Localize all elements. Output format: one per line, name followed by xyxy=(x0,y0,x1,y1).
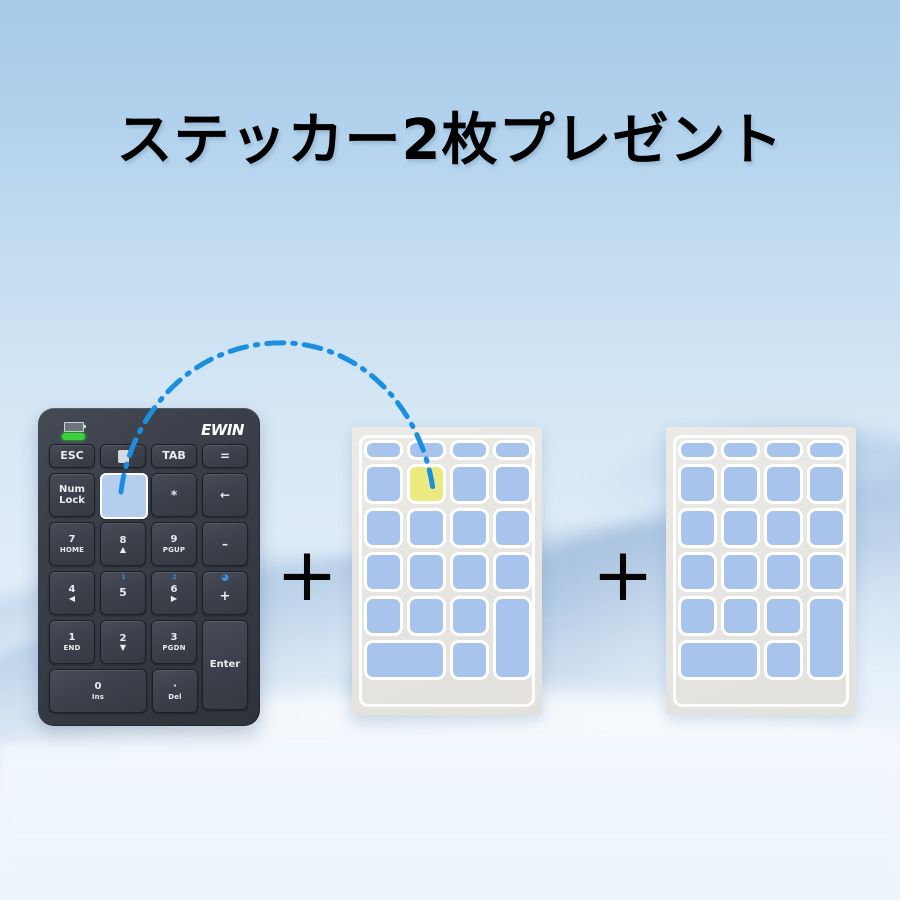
key-dot[interactable]: ·Del xyxy=(152,669,198,713)
sticker xyxy=(764,640,803,680)
key-star[interactable]: * xyxy=(151,473,197,517)
sticker xyxy=(764,508,803,548)
sticker xyxy=(764,596,803,636)
battery-icon xyxy=(64,422,84,432)
sticker xyxy=(807,508,846,548)
plus-separator-2: + xyxy=(592,538,654,612)
sticker xyxy=(807,596,846,680)
key-label: ← xyxy=(220,489,230,502)
key-label: TAB xyxy=(162,450,186,462)
sticker xyxy=(678,508,717,548)
key-label: 3 xyxy=(171,632,178,644)
key-k8[interactable]: 8▲ xyxy=(100,522,146,566)
key-label: Enter xyxy=(210,660,240,671)
key-numlock[interactable]: NumLock xyxy=(49,473,95,517)
sticker xyxy=(493,440,532,460)
sticker xyxy=(364,552,403,592)
key-equals[interactable]: = xyxy=(202,444,248,468)
sticker xyxy=(450,464,489,504)
key-sublabel: PGDN xyxy=(162,644,185,652)
bluetooth-icon: 𝉚1 xyxy=(120,574,125,581)
numeric-keypad: EWIN ESCTAB=NumLock*←7HOME8▲9PGUP–4◀𝉚15𝉚… xyxy=(38,408,260,726)
sticker xyxy=(721,464,760,504)
key-k6[interactable]: 𝉚26▶ xyxy=(151,571,197,615)
key-sublabel: Ins xyxy=(92,693,104,701)
key-esc[interactable]: ESC xyxy=(49,444,95,468)
sticker xyxy=(364,440,403,460)
key-label: 9 xyxy=(171,534,178,546)
key-k1[interactable]: 1END xyxy=(49,620,95,664)
sticker xyxy=(807,552,846,592)
sticker xyxy=(678,640,760,680)
sticker xyxy=(364,464,403,504)
key-k4[interactable]: 4◀ xyxy=(49,571,95,615)
page-title: ステッカー2枚プレゼント xyxy=(0,95,900,176)
calculator-icon xyxy=(118,450,129,463)
sticker xyxy=(721,508,760,548)
product-graphic: ステッカー2枚プレゼント EWIN ESCTAB=NumLock*←7HOME8… xyxy=(0,0,900,900)
key-k2[interactable]: 2▼ xyxy=(100,620,146,664)
sticker xyxy=(764,440,803,460)
sticker xyxy=(450,596,489,636)
status-led xyxy=(62,433,85,440)
bluetooth-channel: 1 xyxy=(121,575,125,581)
sticker xyxy=(764,464,803,504)
key-label: + xyxy=(220,590,231,604)
sticker xyxy=(450,640,489,680)
status-indicator xyxy=(62,422,88,442)
sticker xyxy=(364,508,403,548)
key-sublabel: PGUP xyxy=(163,546,186,554)
key-enter[interactable]: Enter xyxy=(202,620,248,710)
key-sublabel: HOME xyxy=(60,546,84,554)
key-tab[interactable]: TAB xyxy=(151,444,197,468)
key-plus[interactable]: ◕+ xyxy=(202,571,248,615)
key-k3[interactable]: 3PGDN xyxy=(151,620,197,664)
key-label: Num xyxy=(59,484,85,496)
key-sublabel: ▶ xyxy=(171,595,177,602)
key-label: · xyxy=(173,681,177,693)
sticker xyxy=(678,464,717,504)
sticker xyxy=(450,552,489,592)
sticker-highlighted xyxy=(407,464,446,504)
sticker xyxy=(407,552,446,592)
key-sublabel: ◀ xyxy=(69,595,75,602)
sticker xyxy=(678,596,717,636)
sticker xyxy=(493,596,532,680)
sticker xyxy=(493,508,532,548)
key-minus[interactable]: – xyxy=(202,522,248,566)
key-sublabel: ▼ xyxy=(120,644,126,651)
key-label: 1 xyxy=(69,632,76,644)
key-label: 7 xyxy=(69,534,76,546)
key-label: ESC xyxy=(60,450,84,462)
key-sublabel: Del xyxy=(168,693,182,701)
sticker xyxy=(407,596,446,636)
sticker xyxy=(407,508,446,548)
key-sublabel: Lock xyxy=(59,495,85,507)
sticker xyxy=(721,440,760,460)
sticker xyxy=(721,552,760,592)
key-slash[interactable] xyxy=(100,473,148,519)
sticker xyxy=(450,440,489,460)
key-back[interactable]: ← xyxy=(202,473,248,517)
key-k9[interactable]: 9PGUP xyxy=(151,522,197,566)
sticker xyxy=(364,640,446,680)
plus-separator-1: + xyxy=(276,538,338,612)
sticker xyxy=(807,440,846,460)
key-label: 0 xyxy=(95,681,102,693)
sticker xyxy=(678,552,717,592)
sticker xyxy=(721,596,760,636)
key-label: = xyxy=(220,450,230,463)
wifi-icon: ◕ xyxy=(221,574,229,583)
key-k0[interactable]: 0Ins xyxy=(49,669,147,713)
sticker-sheet-middle xyxy=(352,427,542,715)
sticker xyxy=(450,508,489,548)
key-k5[interactable]: 𝉚15 xyxy=(100,571,146,615)
sticker xyxy=(678,440,717,460)
sticker xyxy=(764,552,803,592)
key-label: – xyxy=(222,538,228,551)
key-sublabel: ▲ xyxy=(120,546,126,553)
key-grid: ESCTAB=NumLock*←7HOME8▲9PGUP–4◀𝉚15𝉚26▶◕+… xyxy=(49,444,249,712)
brand-logo: EWIN xyxy=(201,421,244,439)
key-sublabel: END xyxy=(63,644,80,652)
sticker-sheet-right xyxy=(666,427,856,715)
sticker xyxy=(493,552,532,592)
key-k7[interactable]: 7HOME xyxy=(49,522,95,566)
background-floor xyxy=(0,745,900,900)
bluetooth-icon: 𝉚2 xyxy=(171,574,176,582)
sticker xyxy=(364,596,403,636)
sticker xyxy=(407,440,446,460)
key-calc[interactable] xyxy=(100,444,146,468)
sticker xyxy=(807,464,846,504)
bluetooth-channel: 2 xyxy=(172,575,176,582)
key-label: 5 xyxy=(119,587,127,599)
sticker xyxy=(493,464,532,504)
key-label: * xyxy=(171,489,177,502)
